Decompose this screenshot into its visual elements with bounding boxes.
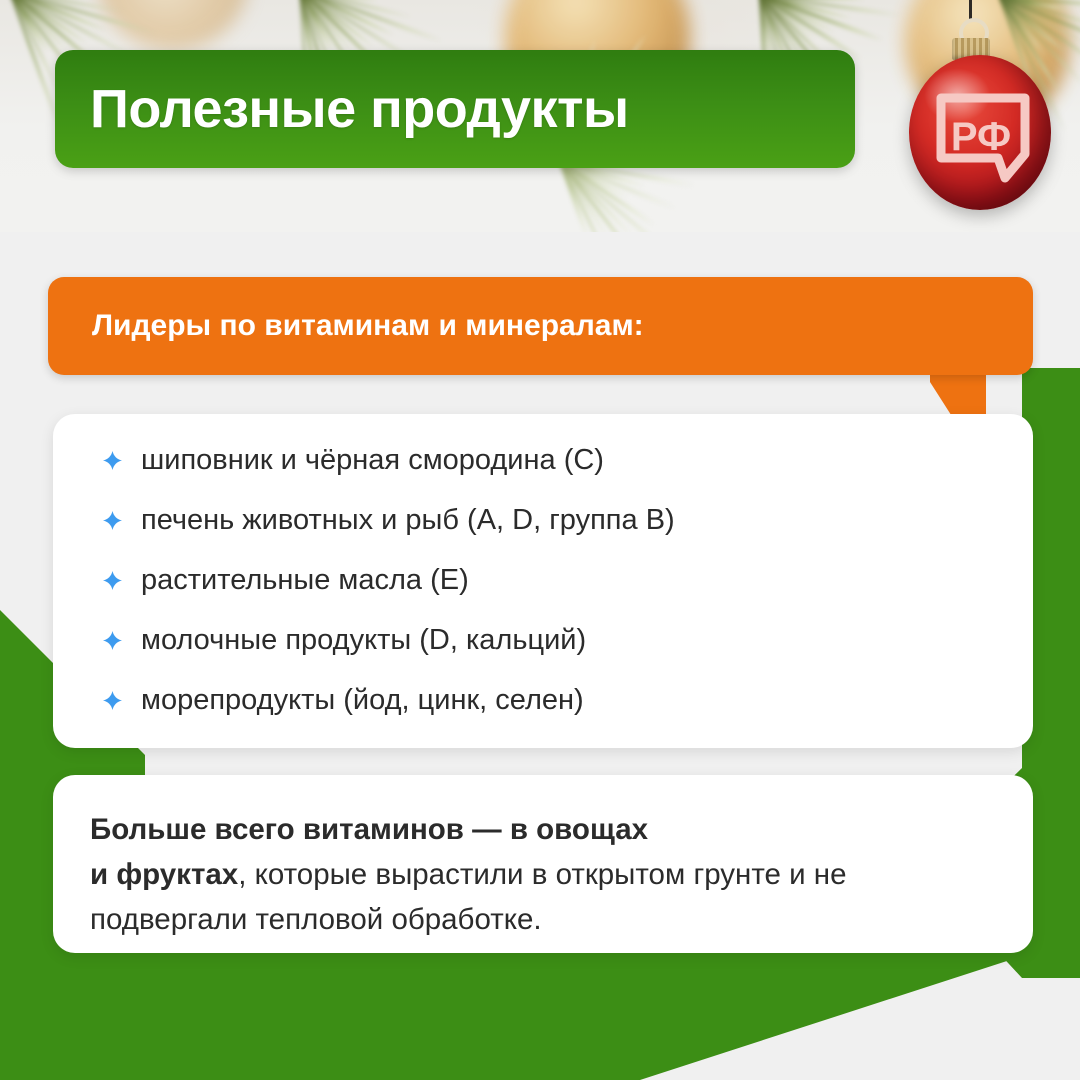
blue-diamond-bullet-icon bbox=[103, 571, 122, 590]
section-banner: Лидеры по витаминам и минералам: bbox=[48, 277, 1033, 375]
blue-diamond-bullet-icon bbox=[103, 691, 122, 710]
note-card-text: Больше всего витаминов — в овощах и фрук… bbox=[53, 775, 1033, 942]
page-title-bar: Полезные продукты bbox=[55, 50, 855, 168]
list-item-label: печень животных и рыб (A, D, группа B) bbox=[141, 504, 675, 537]
list-item: растительные масла (E) bbox=[53, 564, 1033, 624]
blue-diamond-bullet-icon bbox=[103, 631, 122, 650]
note-bold-line-1: Больше всего витаминов — в овощах bbox=[90, 813, 648, 846]
list-item: печень животных и рыб (A, D, группа B) bbox=[53, 504, 1033, 564]
note-bold-line-2: и фруктах bbox=[90, 858, 238, 891]
note-card: Больше всего витаминов — в овощах и фрук… bbox=[53, 775, 1033, 953]
vitamin-leaders-card: шиповник и чёрная смородина (C) печень ж… bbox=[53, 414, 1033, 748]
blue-diamond-bullet-icon bbox=[103, 451, 122, 470]
list-item-label: растительные масла (E) bbox=[141, 564, 469, 597]
page-title: Полезные продукты bbox=[55, 78, 629, 140]
list-item-label: морепродукты (йод, цинк, селен) bbox=[141, 684, 584, 717]
blue-diamond-bullet-icon bbox=[103, 511, 122, 530]
section-banner-label: Лидеры по витаминам и минералам: bbox=[48, 309, 644, 343]
brand-ornament: РФ bbox=[893, 0, 1080, 230]
list-item-label: молочные продукты (D, кальций) bbox=[141, 624, 586, 657]
vitamin-leaders-list: шиповник и чёрная смородина (C) печень ж… bbox=[53, 414, 1033, 744]
list-item: молочные продукты (D, кальций) bbox=[53, 624, 1033, 684]
list-item: шиповник и чёрная смородина (C) bbox=[53, 444, 1033, 504]
list-item-label: шиповник и чёрная смородина (C) bbox=[141, 444, 604, 477]
infographic-canvas: Полезные продукты РФ Лидеры по витаминам… bbox=[0, 0, 1080, 1080]
list-item: морепродукты (йод, цинк, селен) bbox=[53, 684, 1033, 744]
svg-text:РФ: РФ bbox=[951, 115, 1011, 159]
rf-speech-bubble-logo-icon: РФ bbox=[935, 88, 1031, 184]
